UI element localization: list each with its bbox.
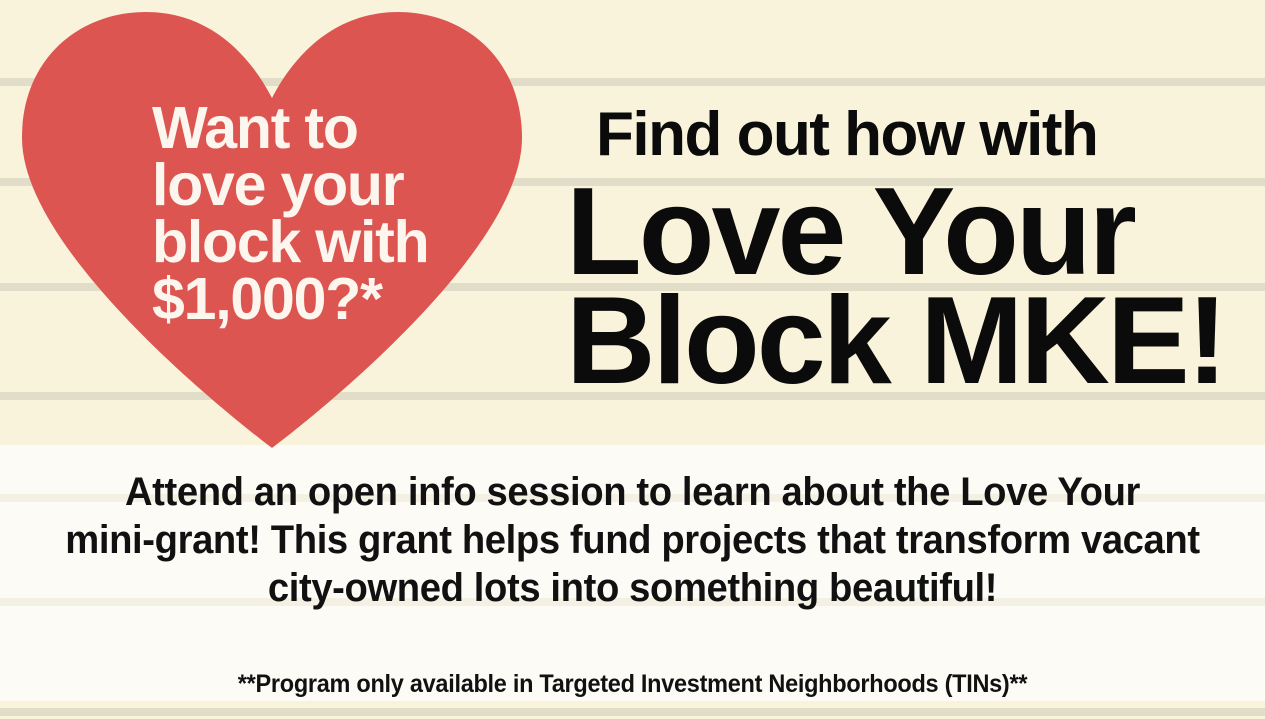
main-headline-line-1: Love Your bbox=[566, 178, 1186, 287]
footnote-disclaimer: **Program only available in Targeted Inv… bbox=[55, 670, 1210, 698]
main-headline: Love Your Block MKE! bbox=[566, 178, 1186, 396]
body-copy-line-1: Attend an open info session to learn abo… bbox=[46, 468, 1220, 516]
background-stripe bbox=[0, 708, 1265, 716]
body-copy-line-3: city-owned lots into something beautiful… bbox=[46, 564, 1220, 612]
headline-kicker: Find out how with bbox=[596, 104, 1156, 166]
heart-headline-line-4: $1,000?* bbox=[152, 271, 482, 328]
body-copy-line-2: mini-grant! This grant helps fund projec… bbox=[46, 516, 1220, 564]
heart-headline-line-1: Want to bbox=[152, 100, 482, 157]
heart-headline: Want to love your block with $1,000?* bbox=[152, 100, 482, 328]
heart-headline-line-2: love your bbox=[152, 157, 482, 214]
heart-graphic: Want to love your block with $1,000?* bbox=[22, 12, 522, 448]
main-headline-line-2: Block MKE! bbox=[566, 287, 1186, 396]
heart-headline-line-3: block with bbox=[152, 214, 482, 271]
body-copy: Attend an open info session to learn abo… bbox=[46, 468, 1220, 612]
love-your-block-flyer: Want to love your block with $1,000?* Fi… bbox=[0, 0, 1265, 719]
